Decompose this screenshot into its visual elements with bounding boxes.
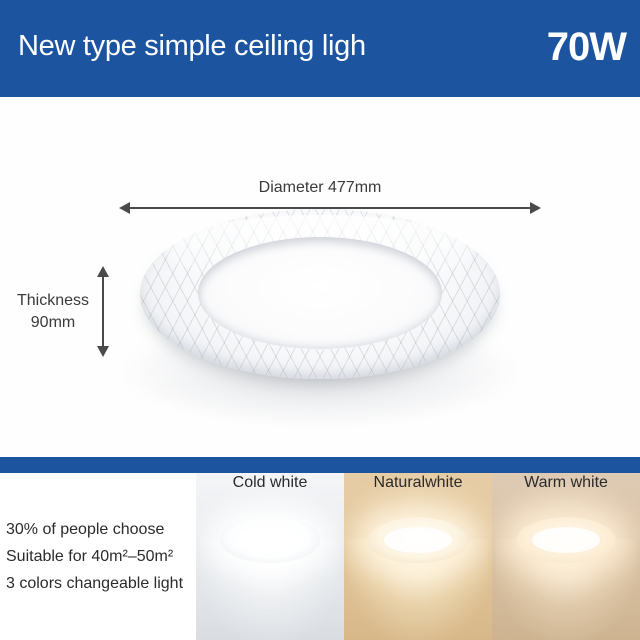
thickness-arrow-line — [102, 277, 104, 347]
diameter-arrow-head-left — [119, 202, 130, 214]
swatch-lamp-icon — [220, 517, 320, 563]
diameter-arrow-head-right — [530, 202, 541, 214]
swatch-label-natural-white: Naturalwhite — [344, 474, 492, 492]
wattage-badge: 70W — [547, 27, 626, 67]
diameter-arrow-line — [130, 207, 530, 209]
product-banner: New type simple ceiling ligh 70W Diamete… — [0, 0, 640, 640]
color-swatch-natural-white[interactable]: Naturalwhite — [344, 473, 492, 640]
lamp-inner-disc — [198, 237, 442, 349]
product-notes: 30% of people choose Suitable for 40m²–5… — [0, 473, 196, 640]
color-swatch-cold-white[interactable]: Cold white — [196, 473, 344, 640]
swatch-label-cold-white: Cold white — [196, 474, 344, 492]
note-line-1: 30% of people choose — [6, 516, 196, 543]
diameter-label: Diameter 477mm — [0, 179, 640, 197]
ceiling-lamp-image — [140, 209, 500, 379]
color-options-area: 30% of people choose Suitable for 40m²–5… — [0, 473, 640, 640]
thickness-value: 90mm — [6, 312, 100, 334]
blue-divider — [0, 457, 640, 473]
note-line-3: 3 colors changeable light — [6, 570, 196, 597]
product-photo-area: Diameter 477mm Thickness 90mm — [0, 97, 640, 457]
note-line-2: Suitable for 40m²–50m² — [6, 543, 196, 570]
thickness-arrow-head-bottom — [97, 346, 109, 357]
thickness-arrow-head-top — [97, 266, 109, 277]
swatch-lamp-core — [384, 527, 452, 553]
swatch-lamp-icon — [516, 517, 616, 563]
swatch-lamp-core — [236, 527, 304, 553]
thickness-annotation: Thickness 90mm — [6, 290, 100, 334]
product-title: New type simple ceiling ligh — [18, 32, 366, 61]
header-bar: New type simple ceiling ligh 70W — [0, 0, 640, 97]
swatch-lamp-core — [532, 527, 600, 553]
swatch-lamp-icon — [368, 517, 468, 563]
color-swatch-warm-white[interactable]: Warm white — [492, 473, 640, 640]
color-swatch-row: Cold white Naturalwhite Warm white — [196, 473, 640, 640]
swatch-label-warm-white: Warm white — [492, 474, 640, 492]
thickness-caption: Thickness — [6, 290, 100, 312]
